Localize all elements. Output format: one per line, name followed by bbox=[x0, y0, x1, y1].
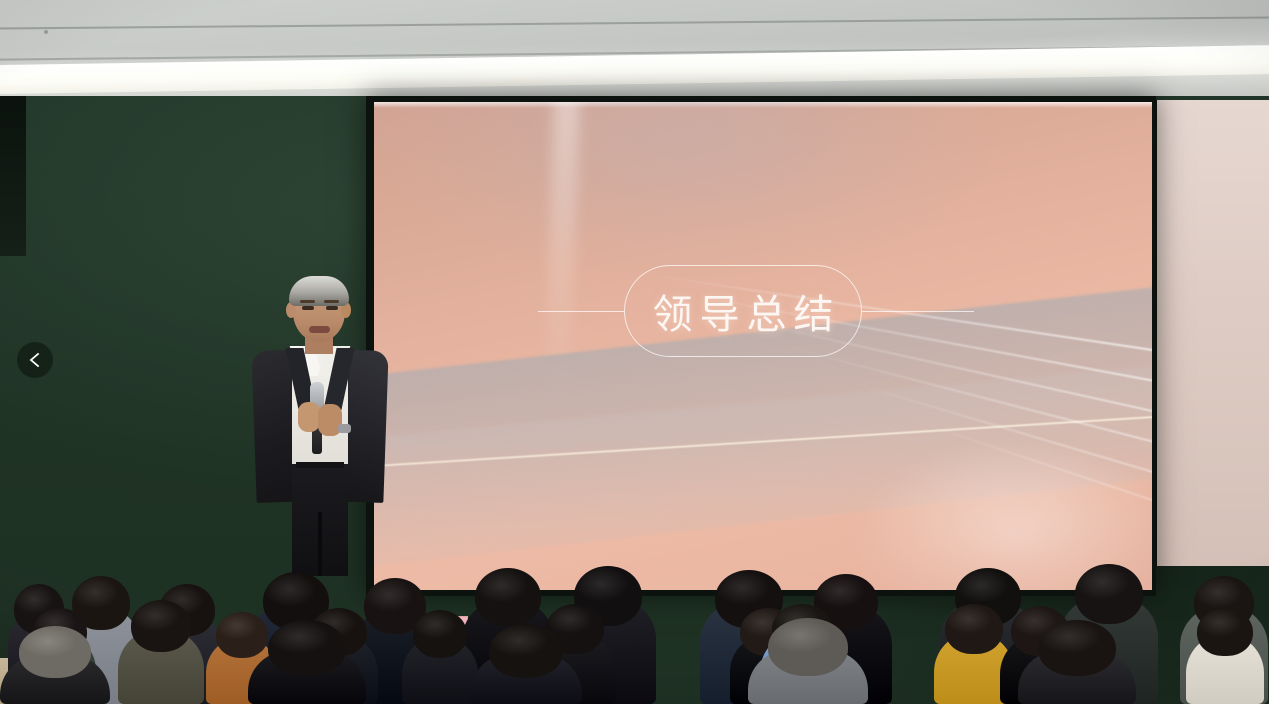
audience-member-head bbox=[489, 624, 563, 678]
audience bbox=[0, 430, 1269, 704]
slide-title-rule-left bbox=[538, 311, 624, 312]
audience-member-head bbox=[945, 604, 1003, 654]
presentation-photo: 领导总结 伟 bbox=[0, 0, 1269, 704]
audience-member-head bbox=[131, 600, 191, 652]
speaker-eye-right bbox=[326, 306, 338, 310]
chevron-left-icon bbox=[28, 352, 42, 368]
speaker-eye-left bbox=[302, 306, 314, 310]
audience-member bbox=[1018, 620, 1136, 704]
audience-member-head bbox=[1075, 564, 1143, 624]
speaker-hair bbox=[289, 276, 349, 306]
speaker-mouth bbox=[309, 326, 330, 333]
audience-member bbox=[748, 618, 868, 704]
speaker-eyebrow-right bbox=[324, 300, 339, 303]
audience-member-head bbox=[1197, 608, 1253, 656]
slide-title-text: 领导总结 bbox=[624, 265, 862, 357]
audience-member bbox=[470, 624, 582, 704]
audience-member bbox=[118, 600, 204, 704]
speaker-hand-left bbox=[298, 402, 320, 432]
audience-member-head bbox=[19, 626, 91, 678]
ceiling-seam bbox=[0, 16, 1269, 29]
audience-member bbox=[1186, 608, 1264, 704]
audience-member bbox=[402, 610, 478, 704]
wall-dark-corner bbox=[0, 96, 26, 256]
previous-photo-button[interactable] bbox=[17, 342, 53, 378]
audience-member bbox=[248, 620, 366, 704]
slide-title-rule-right bbox=[862, 311, 974, 312]
audience-member-head bbox=[268, 620, 346, 676]
audience-member-head bbox=[768, 618, 848, 676]
audience-member-head bbox=[475, 568, 541, 626]
slide-title-group: 领导总结 bbox=[624, 265, 862, 357]
audience-member-head bbox=[1038, 620, 1116, 676]
speaker-eyebrow-left bbox=[300, 300, 315, 303]
audience-member bbox=[0, 626, 110, 704]
audience-member-head bbox=[413, 610, 467, 658]
ceiling-screw bbox=[44, 30, 48, 34]
